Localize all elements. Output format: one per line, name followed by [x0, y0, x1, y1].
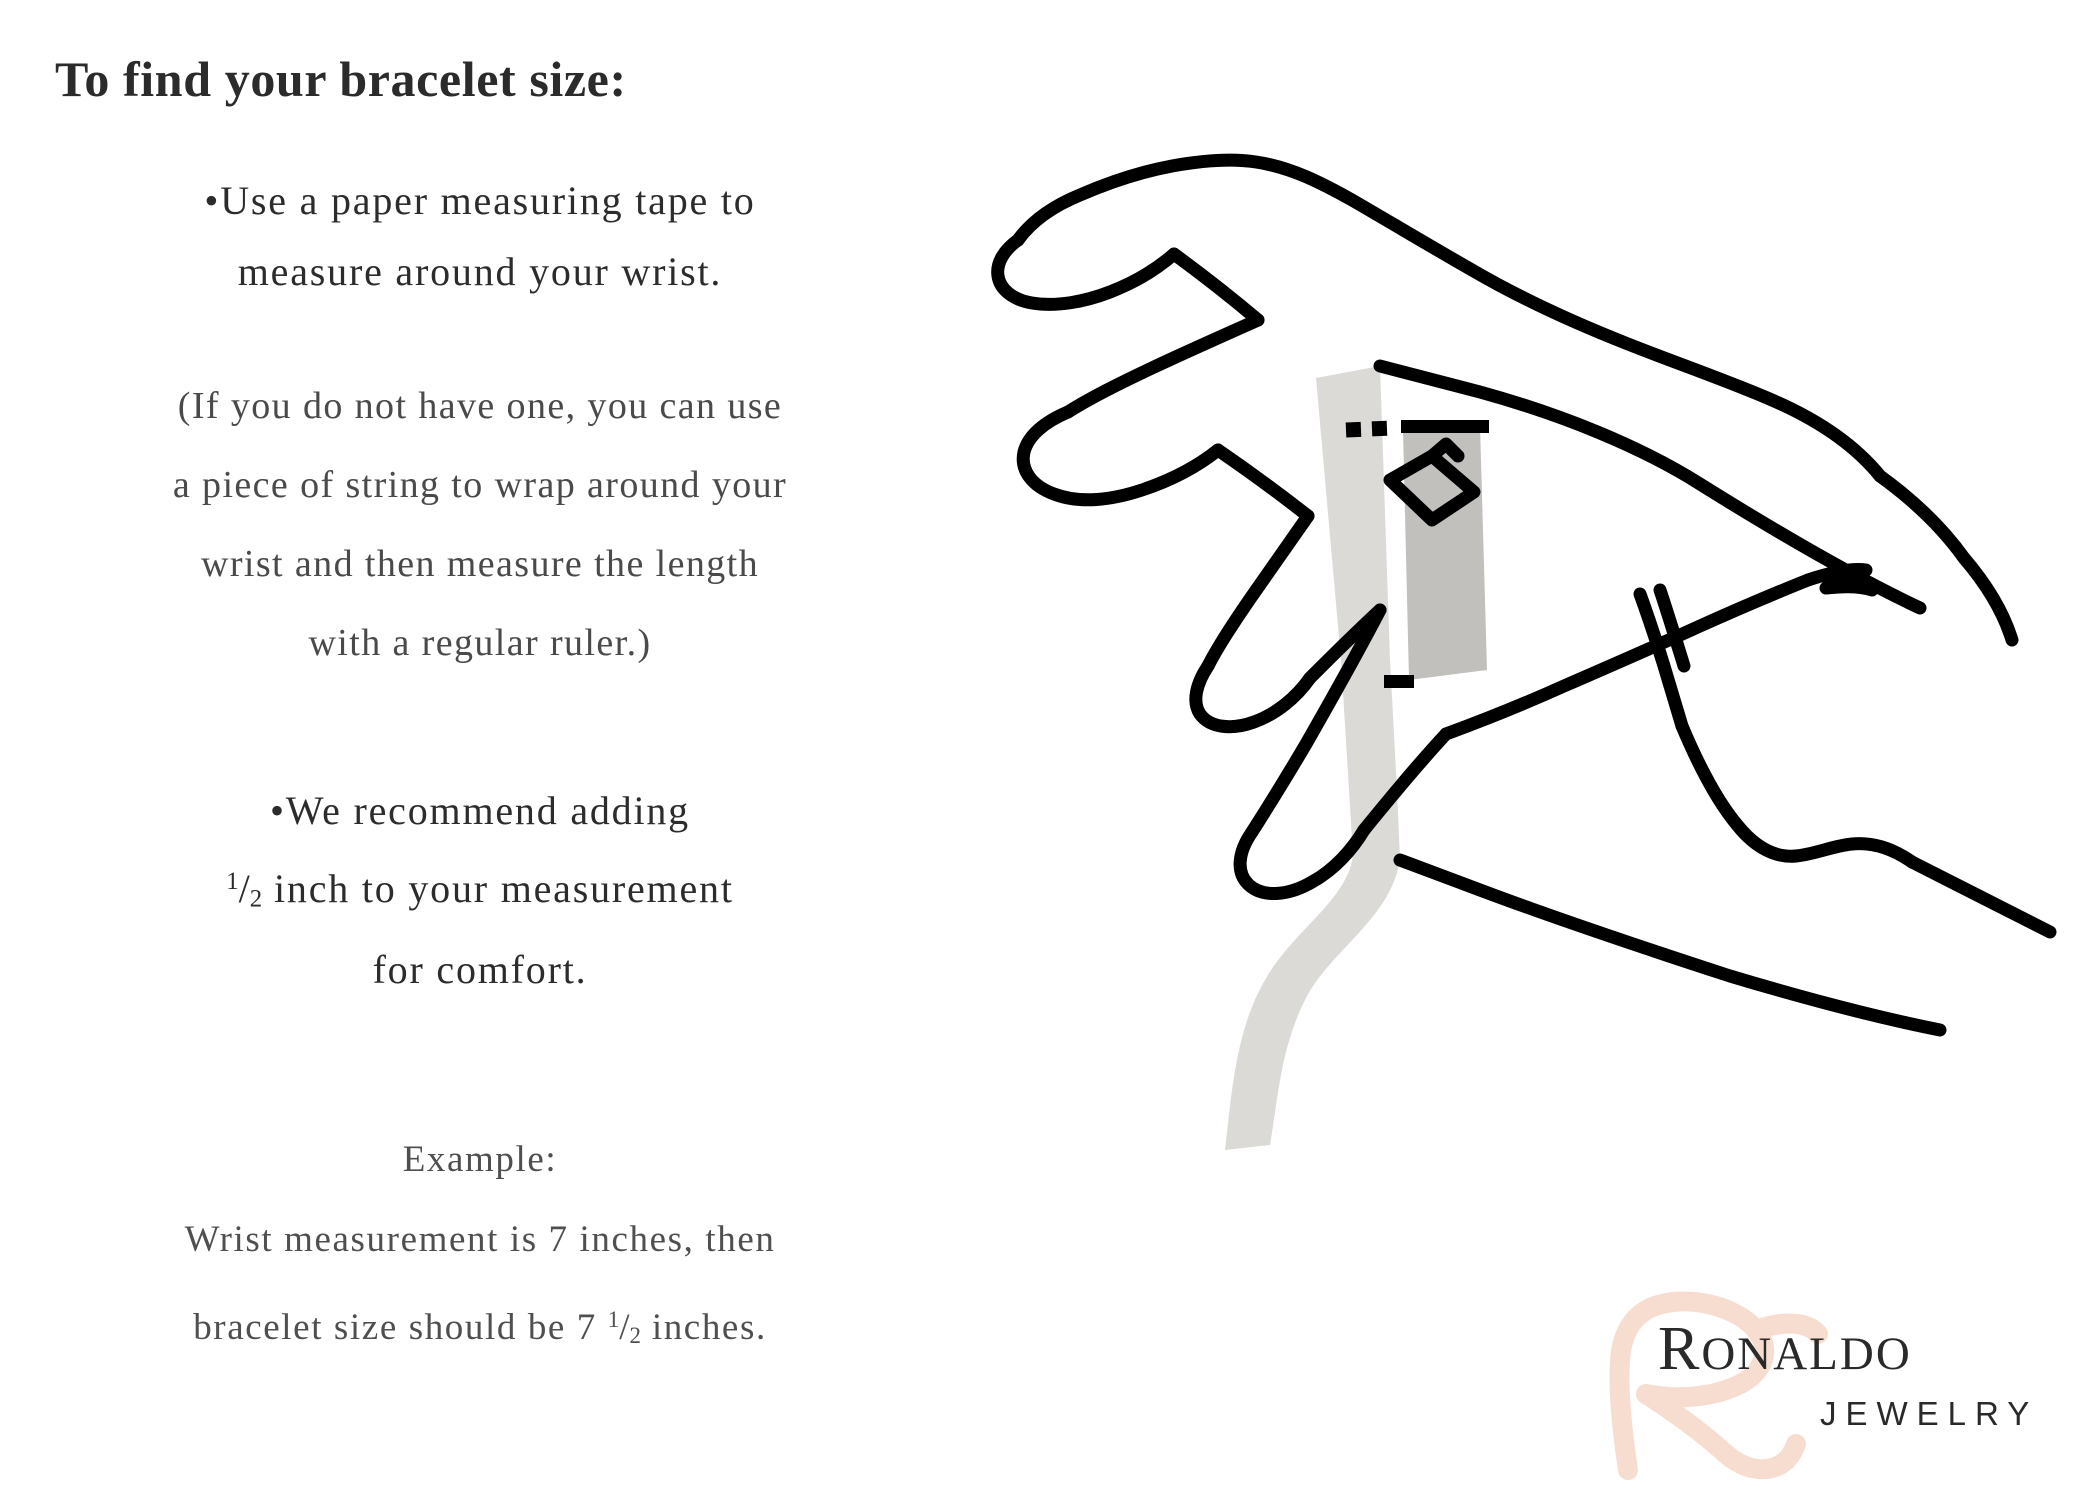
bullet-1-note-line-4: with a regular ruler.) — [20, 604, 940, 683]
fraction-denominator: 2 — [250, 885, 262, 912]
example-line-2-prefix: bracelet size should be 7 — [193, 1307, 608, 1348]
bracelet-size-guide-page: To find your bracelet size: •Use a paper… — [0, 0, 2100, 1500]
instruction-bullet-2: •We recommend adding 1/2 inch to your me… — [20, 775, 940, 1005]
fraction-numerator: 1 — [226, 868, 238, 895]
example-block: Example: Wrist measurement is 7 inches, … — [20, 1120, 940, 1376]
tape-lower-tick — [1384, 675, 1414, 688]
instruction-bullet-1-note: (If you do not have one, you can use a p… — [20, 288, 940, 683]
instructions-column: To find your bracelet size: •Use a paper… — [0, 0, 960, 1500]
half-inch-fraction: 1/2 — [226, 846, 262, 934]
hand-with-measuring-tape-illustration — [960, 100, 2100, 1220]
example-fraction-slash: / — [619, 1307, 629, 1348]
instruction-bullet-1: •Use a paper measuring tape to measure a… — [20, 165, 940, 307]
ronaldo-jewelry-logo: RONALDO JEWELRY — [1570, 1290, 2070, 1480]
example-heading: Example: — [20, 1120, 940, 1200]
bullet-1-note-line-1: (If you do not have one, you can use — [20, 367, 940, 446]
bullet-1-note-line-2: a piece of string to wrap around your — [20, 446, 940, 525]
hand-outline — [998, 160, 2050, 932]
example-fraction-numerator: 1 — [608, 1307, 619, 1332]
bullet-1-note-line-3: wrist and then measure the length — [20, 525, 940, 604]
logo-wordmark: RONALDO — [1658, 1318, 1912, 1380]
logo-brand-initial: R — [1658, 1315, 1701, 1383]
page-title: To find your bracelet size: — [55, 50, 627, 108]
example-line-2-suffix: inches. — [641, 1307, 767, 1348]
bullet-1-line-1: •Use a paper measuring tape to — [20, 165, 940, 236]
example-line-2: bracelet size should be 7 1/2 inches. — [20, 1280, 940, 1376]
fraction-slash: / — [239, 866, 250, 911]
example-line-1: Wrist measurement is 7 inches, then — [20, 1200, 940, 1280]
measuring-tape-light-band — [1225, 366, 1400, 1150]
example-fraction-denominator: 2 — [630, 1323, 641, 1348]
bullet-2-line-2-suffix: inch to your measurement — [262, 866, 734, 911]
example-half-fraction: 1/2 — [608, 1280, 641, 1376]
bullet-2-line-3: for comfort. — [20, 934, 940, 1005]
tape-solid-marker — [1401, 420, 1489, 433]
bullet-2-line-1: •We recommend adding — [20, 775, 940, 846]
logo-brand-rest: ONALDO — [1701, 1328, 1911, 1380]
bullet-2-line-2: 1/2 inch to your measurement — [20, 846, 940, 934]
logo-subtitle: JEWELRY — [1820, 1395, 2038, 1433]
